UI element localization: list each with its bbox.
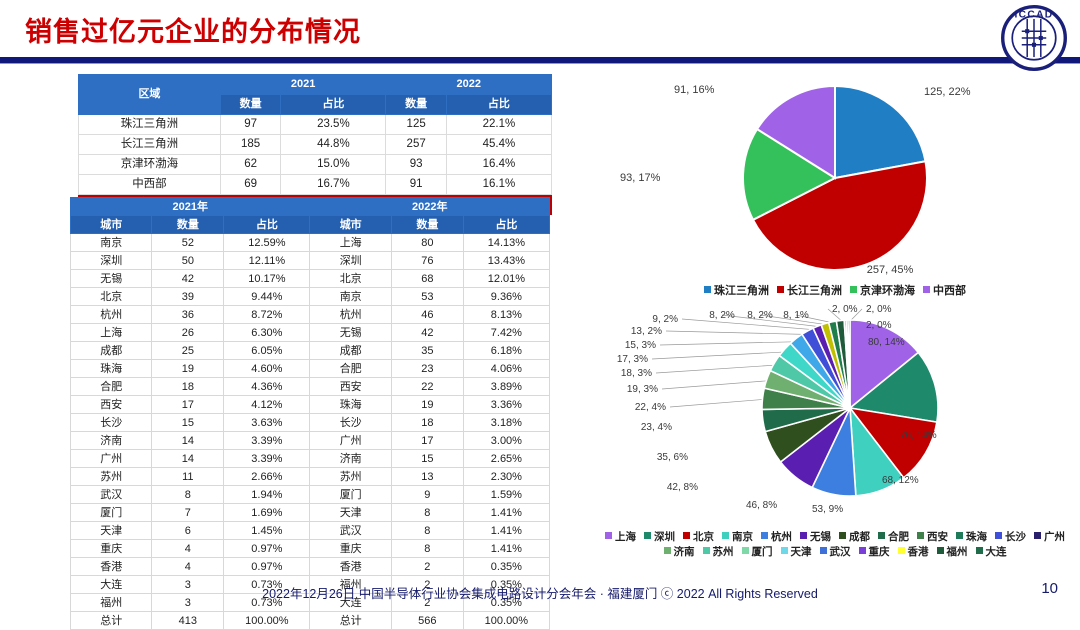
cell-city-2022: 济南 [310,450,391,468]
cell-share-2022: 13.43% [463,252,549,270]
cell-share-2021: 4.60% [224,360,310,378]
cell-count-2022: 76 [391,252,463,270]
legend-swatch-icon [777,286,784,293]
cell-city-2021: 济南 [71,432,152,450]
col-2022-share: 占比 [446,95,551,115]
cell-share-2022: 1.41% [463,504,549,522]
legend-swatch-icon [820,547,827,554]
cell-p2022: 16.4% [446,155,551,175]
cell-p2021: 23.5% [281,115,386,135]
pie-leader-line [660,342,798,345]
table-row: 北京399.44%南京539.36% [71,288,550,306]
cell-city-2022: 杭州 [310,306,391,324]
cell-count-2022: 8 [391,540,463,558]
cell-share-2021: 10.17% [224,270,310,288]
cell-count-2022: 80 [391,234,463,252]
legend-swatch-icon [761,532,768,539]
cell-city-2021: 香港 [71,558,152,576]
legend-label: 武汉 [830,546,851,558]
legend-item[interactable]: 北京 [683,530,714,545]
cell-c2022: 125 [386,115,446,135]
title-divider-thin [0,63,1080,64]
legend-label: 京津环渤海 [860,285,915,297]
pie-leader-line [662,381,771,389]
cell-share-2022: 1.41% [463,540,549,558]
table-row: 珠海194.60%合肥234.06% [71,360,550,378]
table-row: 珠江三角洲 97 23.5% 125 22.1% [79,115,552,135]
cell-count-2021: 6 [152,522,224,540]
legend-item[interactable]: 珠海 [956,530,987,545]
legend-swatch-icon [976,547,983,554]
cell-c2022: 257 [386,135,446,155]
cell-p2021: 44.8% [281,135,386,155]
cell-count-2021: 17 [152,396,224,414]
cell-city-2022: 成都 [310,342,391,360]
cell-region: 中西部 [79,175,221,195]
legend-item[interactable]: 杭州 [761,530,792,545]
pie-data-label: 8, 2% [709,310,735,321]
cell-p2022: 16.1% [446,175,551,195]
cell-c2021: 185 [220,135,280,155]
table-row: 广州143.39%济南152.65% [71,450,550,468]
cell-share-2022: 3.36% [463,396,549,414]
col-share-2022: 占比 [463,216,549,234]
cell-count-2021: 36 [152,306,224,324]
table-row: 成都256.05%成都356.18% [71,342,550,360]
legend-item[interactable]: 珠江三角洲 [704,282,769,298]
cell-c2021: 62 [220,155,280,175]
table-row: 上海266.30%无锡427.42% [71,324,550,342]
cell-city-2022: 苏州 [310,468,391,486]
cell-city-2021: 天津 [71,522,152,540]
cell-share-2021: 1.69% [224,504,310,522]
cell-share-2021: 4.36% [224,378,310,396]
legend-item[interactable]: 中西部 [923,282,966,298]
table-row: 长江三角洲 185 44.8% 257 45.4% [79,135,552,155]
table-row: 总计413100.00%总计566100.00% [71,612,550,630]
cell-count-2022: 8 [391,522,463,540]
pie-data-label: 15, 3% [625,340,656,351]
table-header-row: 区域 2021 2022 [79,75,552,95]
legend-item[interactable]: 武汉 [820,545,851,560]
pie-data-label: 257, 45% [867,264,914,276]
page-title: 销售过亿元企业的分布情况 [25,10,361,49]
cell-share-2022: 7.42% [463,324,549,342]
cell-count-2021: 39 [152,288,224,306]
cell-count-2021: 18 [152,378,224,396]
cell-city-2022: 合肥 [310,360,391,378]
cell-city-2021: 成都 [71,342,152,360]
cell-count-2021: 52 [152,234,224,252]
col-count-2022: 数量 [391,216,463,234]
col-share-2021: 占比 [224,216,310,234]
legend-label: 无锡 [810,531,831,543]
legend-item[interactable]: 无锡 [800,530,831,545]
cell-city-2021: 厦门 [71,504,152,522]
legend-label: 杭州 [771,531,792,543]
pie-leader-line [666,331,809,334]
pie-data-label: 18, 3% [621,368,652,379]
legend-label: 珠海 [966,531,987,543]
cell-p2022: 22.1% [446,115,551,135]
legend-swatch-icon [917,532,924,539]
legend-item[interactable]: 深圳 [644,530,675,545]
pie-data-label: 23, 4% [641,422,672,433]
legend-item[interactable]: 合肥 [878,530,909,545]
cell-share-2021: 3.39% [224,432,310,450]
legend-swatch-icon [644,532,651,539]
table-row: 长沙153.63%长沙183.18% [71,414,550,432]
cell-city-2021: 南京 [71,234,152,252]
footer-text: 2022年12月26日 中国半导体行业协会集成电路设计分会年会 · 福建厦门 ⓒ… [0,583,1080,602]
cell-count-2021: 14 [152,450,224,468]
cell-count-2022: 23 [391,360,463,378]
legend-swatch-icon [898,547,905,554]
cell-share-2022: 12.01% [463,270,549,288]
legend-swatch-icon [878,532,885,539]
cell-count-2022: 18 [391,414,463,432]
city-pie-chart: 80, 14%76, 14%68, 12%53, 9%46, 8%42, 8%3… [600,300,1070,530]
cell-share-2022: 2.65% [463,450,549,468]
legend-label: 上海 [615,531,636,543]
region-distribution-table: 区域 2021 2022 数量 占比 数量 占比 珠江三角洲 97 23.5% … [78,74,552,215]
table-row: 深圳5012.11%深圳7613.43% [71,252,550,270]
legend-item[interactable]: 南京 [722,530,753,545]
pie-data-label: 13, 2% [631,326,662,337]
cell-count-2021: 26 [152,324,224,342]
legend-item[interactable]: 西安 [917,530,948,545]
cell-share-2022: 1.41% [463,522,549,540]
table-row: 中西部 69 16.7% 91 16.1% [79,175,552,195]
cell-count-2022: 9 [391,486,463,504]
cell-count-2021: 7 [152,504,224,522]
cell-count-2021: 19 [152,360,224,378]
pie-data-label: 8, 2% [747,310,773,321]
col-2022-count: 数量 [386,95,446,115]
cell-count-2022: 68 [391,270,463,288]
cell-share-2022: 6.18% [463,342,549,360]
pie-data-label: 93, 17% [620,172,661,184]
cell-city-2022: 重庆 [310,540,391,558]
pie-leader-line [652,352,788,359]
pie-data-label: 19, 3% [627,384,658,395]
pie-data-label: 2, 0% [832,304,858,315]
legend-item[interactable]: 重庆 [859,545,890,560]
cell-city-2022: 总计 [310,612,391,630]
cell-city-2022: 珠海 [310,396,391,414]
cell-city-2021: 合肥 [71,378,152,396]
table-row: 重庆40.97%重庆81.41% [71,540,550,558]
legend-label: 长江三角洲 [787,285,842,297]
pie-data-label: 42, 8% [667,482,698,493]
cell-count-2021: 4 [152,558,224,576]
cell-share-2022: 100.00% [463,612,549,630]
pie-data-label: 46, 8% [746,500,777,511]
legend-swatch-icon [800,532,807,539]
legend-label: 大连 [986,546,1007,558]
legend-item[interactable]: 长沙 [995,530,1026,545]
cell-share-2022: 3.89% [463,378,549,396]
cell-c2022: 91 [386,175,446,195]
legend-swatch-icon [839,532,846,539]
city-pie-legend: 上海深圳北京南京杭州无锡成都合肥西安珠海长沙广州济南苏州厦门天津武汉重庆香港福州… [600,530,1070,560]
cell-count-2021: 42 [152,270,224,288]
table-row: 杭州368.72%杭州468.13% [71,306,550,324]
region-pie-legend: 珠江三角洲长江三角洲京津环渤海中西部 [600,282,1070,298]
cell-region: 珠江三角洲 [79,115,221,135]
cell-share-2021: 1.45% [224,522,310,540]
cell-region: 长江三角洲 [79,135,221,155]
col-city-2021: 城市 [71,216,152,234]
region-pie-svg: 125, 22%257, 45%93, 17%91, 16% [600,68,1070,286]
legend-label: 天津 [791,546,812,558]
legend-item[interactable]: 济南 [664,545,695,560]
col-2021-count: 数量 [220,95,280,115]
cell-count-2022: 13 [391,468,463,486]
table-row: 厦门71.69%天津81.41% [71,504,550,522]
legend-label: 中西部 [933,285,966,297]
cell-share-2021: 6.05% [224,342,310,360]
cell-city-2021: 重庆 [71,540,152,558]
cell-p2021: 16.7% [281,175,386,195]
legend-label: 苏州 [713,546,734,558]
cell-share-2022: 4.06% [463,360,549,378]
cell-p2021: 15.0% [281,155,386,175]
cell-city-2022: 上海 [310,234,391,252]
cell-region: 京津环渤海 [79,155,221,175]
legend-swatch-icon [683,532,690,539]
legend-item[interactable]: 上海 [605,530,636,545]
cell-count-2021: 50 [152,252,224,270]
cell-share-2021: 0.97% [224,558,310,576]
pie-data-label: 22, 4% [635,402,666,413]
legend-swatch-icon [956,532,963,539]
pie-data-label: 2, 0% [866,320,892,331]
legend-label: 厦门 [752,546,773,558]
cell-city-2021: 深圳 [71,252,152,270]
legend-item[interactable]: 成都 [839,530,870,545]
cell-count-2021: 25 [152,342,224,360]
region-pie-chart: 125, 22%257, 45%93, 17%91, 16% [600,68,1070,286]
table-row: 济南143.39%广州173.00% [71,432,550,450]
cell-count-2021: 413 [152,612,224,630]
cell-share-2022: 1.59% [463,486,549,504]
table-row: 香港40.97%香港20.35% [71,558,550,576]
legend-item[interactable]: 苏州 [703,545,734,560]
cell-share-2021: 3.39% [224,450,310,468]
legend-label: 合肥 [888,531,909,543]
cell-share-2021: 12.11% [224,252,310,270]
legend-swatch-icon [781,547,788,554]
legend-label: 济南 [674,546,695,558]
pie-data-label: 125, 22% [924,86,971,98]
legend-swatch-icon [850,286,857,293]
pie-data-label: 35, 6% [657,452,688,463]
cell-share-2021: 12.59% [224,234,310,252]
pie-data-label: 9, 2% [652,314,678,325]
cell-city-2022: 厦门 [310,486,391,504]
cell-count-2021: 4 [152,540,224,558]
cell-city-2021: 杭州 [71,306,152,324]
cell-city-2022: 深圳 [310,252,391,270]
cell-count-2021: 11 [152,468,224,486]
cell-share-2021: 0.97% [224,540,310,558]
col-2021: 2021 [220,75,386,95]
cell-share-2022: 3.18% [463,414,549,432]
city-distribution-table: 2021年 2022年 城市 数量 占比 城市 数量 占比 南京5212.59%… [70,197,550,630]
legend-label: 长沙 [1005,531,1026,543]
table-row: 武汉81.94%厦门91.59% [71,486,550,504]
col-count-2021: 数量 [152,216,224,234]
legend-item[interactable]: 长江三角洲 [777,282,842,298]
cell-share-2021: 6.30% [224,324,310,342]
col-2021-year: 2021年 [71,198,310,216]
city-table-body: 南京5212.59%上海8014.13%深圳5012.11%深圳7613.43%… [71,234,550,630]
page-number: 10 [1041,580,1058,597]
cell-c2021: 97 [220,115,280,135]
cell-share-2021: 9.44% [224,288,310,306]
legend-label: 福州 [947,546,968,558]
legend-swatch-icon [937,547,944,554]
cell-share-2021: 1.94% [224,486,310,504]
cell-share-2022: 3.00% [463,432,549,450]
pie-data-label: 8, 1% [783,310,809,321]
table-row: 天津61.45%武汉81.41% [71,522,550,540]
table-row: 南京5212.59%上海8014.13% [71,234,550,252]
legend-label: 南京 [732,531,753,543]
cell-c2021: 69 [220,175,280,195]
legend-label: 珠江三角洲 [714,285,769,297]
cell-share-2022: 2.30% [463,468,549,486]
col-city-2022: 城市 [310,216,391,234]
legend-item[interactable]: 福州 [937,545,968,560]
col-region: 区域 [79,75,221,115]
legend-swatch-icon [742,547,749,554]
legend-swatch-icon [995,532,1002,539]
iccad-logo: ICCAD [996,4,1072,72]
legend-label: 深圳 [654,531,675,543]
cell-count-2022: 2 [391,558,463,576]
cell-share-2022: 0.35% [463,558,549,576]
cell-share-2022: 9.36% [463,288,549,306]
cell-count-2022: 566 [391,612,463,630]
col-2022: 2022 [386,75,552,95]
cell-city-2021: 上海 [71,324,152,342]
city-pie-svg: 80, 14%76, 14%68, 12%53, 9%46, 8%42, 8%3… [600,300,1070,530]
cell-city-2022: 西安 [310,378,391,396]
col-2021-share: 占比 [281,95,386,115]
cell-count-2022: 15 [391,450,463,468]
table-row: 京津环渤海 62 15.0% 93 16.4% [79,155,552,175]
pie-data-label: 2, 0% [866,304,892,315]
cell-count-2021: 8 [152,486,224,504]
pie-leader-line [670,399,766,407]
cell-city-2021: 无锡 [71,270,152,288]
cell-count-2022: 35 [391,342,463,360]
legend-label: 西安 [927,531,948,543]
col-2022-year: 2022年 [310,198,550,216]
cell-share-2021: 3.63% [224,414,310,432]
table-row: 苏州112.66%苏州132.30% [71,468,550,486]
legend-label: 广州 [1044,531,1065,543]
cell-city-2022: 天津 [310,504,391,522]
cell-city-2021: 长沙 [71,414,152,432]
cell-city-2022: 北京 [310,270,391,288]
pie-data-label: 80, 14% [868,337,905,348]
legend-swatch-icon [923,286,930,293]
pie-leader-line [656,365,778,373]
cell-p2022: 45.4% [446,135,551,155]
pie-data-label: 17, 3% [617,354,648,365]
pie-data-label: 76, 14% [900,430,937,441]
legend-swatch-icon [664,547,671,554]
legend-label: 重庆 [869,546,890,558]
cell-city-2021: 北京 [71,288,152,306]
cell-city-2022: 香港 [310,558,391,576]
cell-count-2022: 8 [391,504,463,522]
cell-count-2022: 46 [391,306,463,324]
table-subheader-row: 城市 数量 占比 城市 数量 占比 [71,216,550,234]
cell-city-2021: 西安 [71,396,152,414]
cell-city-2021: 武汉 [71,486,152,504]
cell-share-2022: 14.13% [463,234,549,252]
cell-city-2021: 广州 [71,450,152,468]
cell-count-2021: 14 [152,432,224,450]
cell-count-2022: 42 [391,324,463,342]
cell-city-2022: 长沙 [310,414,391,432]
legend-label: 北京 [693,531,714,543]
legend-item[interactable]: 香港 [898,545,929,560]
cell-city-2022: 广州 [310,432,391,450]
cell-count-2022: 22 [391,378,463,396]
cell-share-2021: 8.72% [224,306,310,324]
logo-text: ICCAD [1014,10,1053,21]
pie-data-label: 91, 16% [674,84,715,96]
legend-label: 成都 [849,531,870,543]
table-row: 合肥184.36%西安223.89% [71,378,550,396]
legend-item[interactable]: 天津 [781,545,812,560]
table-row: 无锡4210.17%北京6812.01% [71,270,550,288]
cell-city-2021: 总计 [71,612,152,630]
cell-count-2022: 17 [391,432,463,450]
cell-city-2022: 南京 [310,288,391,306]
legend-swatch-icon [703,547,710,554]
cell-c2022: 93 [386,155,446,175]
cell-share-2021: 4.12% [224,396,310,414]
legend-item[interactable]: 京津环渤海 [850,282,915,298]
legend-label: 香港 [908,546,929,558]
cell-city-2021: 珠海 [71,360,152,378]
legend-item[interactable]: 厦门 [742,545,773,560]
legend-item[interactable]: 广州 [1034,530,1065,545]
cell-count-2021: 15 [152,414,224,432]
cell-count-2022: 19 [391,396,463,414]
legend-swatch-icon [605,532,612,539]
cell-count-2022: 53 [391,288,463,306]
cell-city-2021: 苏州 [71,468,152,486]
cell-city-2022: 武汉 [310,522,391,540]
legend-swatch-icon [1034,532,1041,539]
pie-data-label: 68, 12% [882,475,919,486]
legend-swatch-icon [704,286,711,293]
cell-share-2021: 2.66% [224,468,310,486]
table-row: 西安174.12%珠海193.36% [71,396,550,414]
legend-swatch-icon [722,532,729,539]
pie-data-label: 53, 9% [812,504,843,515]
cell-share-2021: 100.00% [224,612,310,630]
legend-swatch-icon [859,547,866,554]
legend-item[interactable]: 大连 [976,545,1007,560]
